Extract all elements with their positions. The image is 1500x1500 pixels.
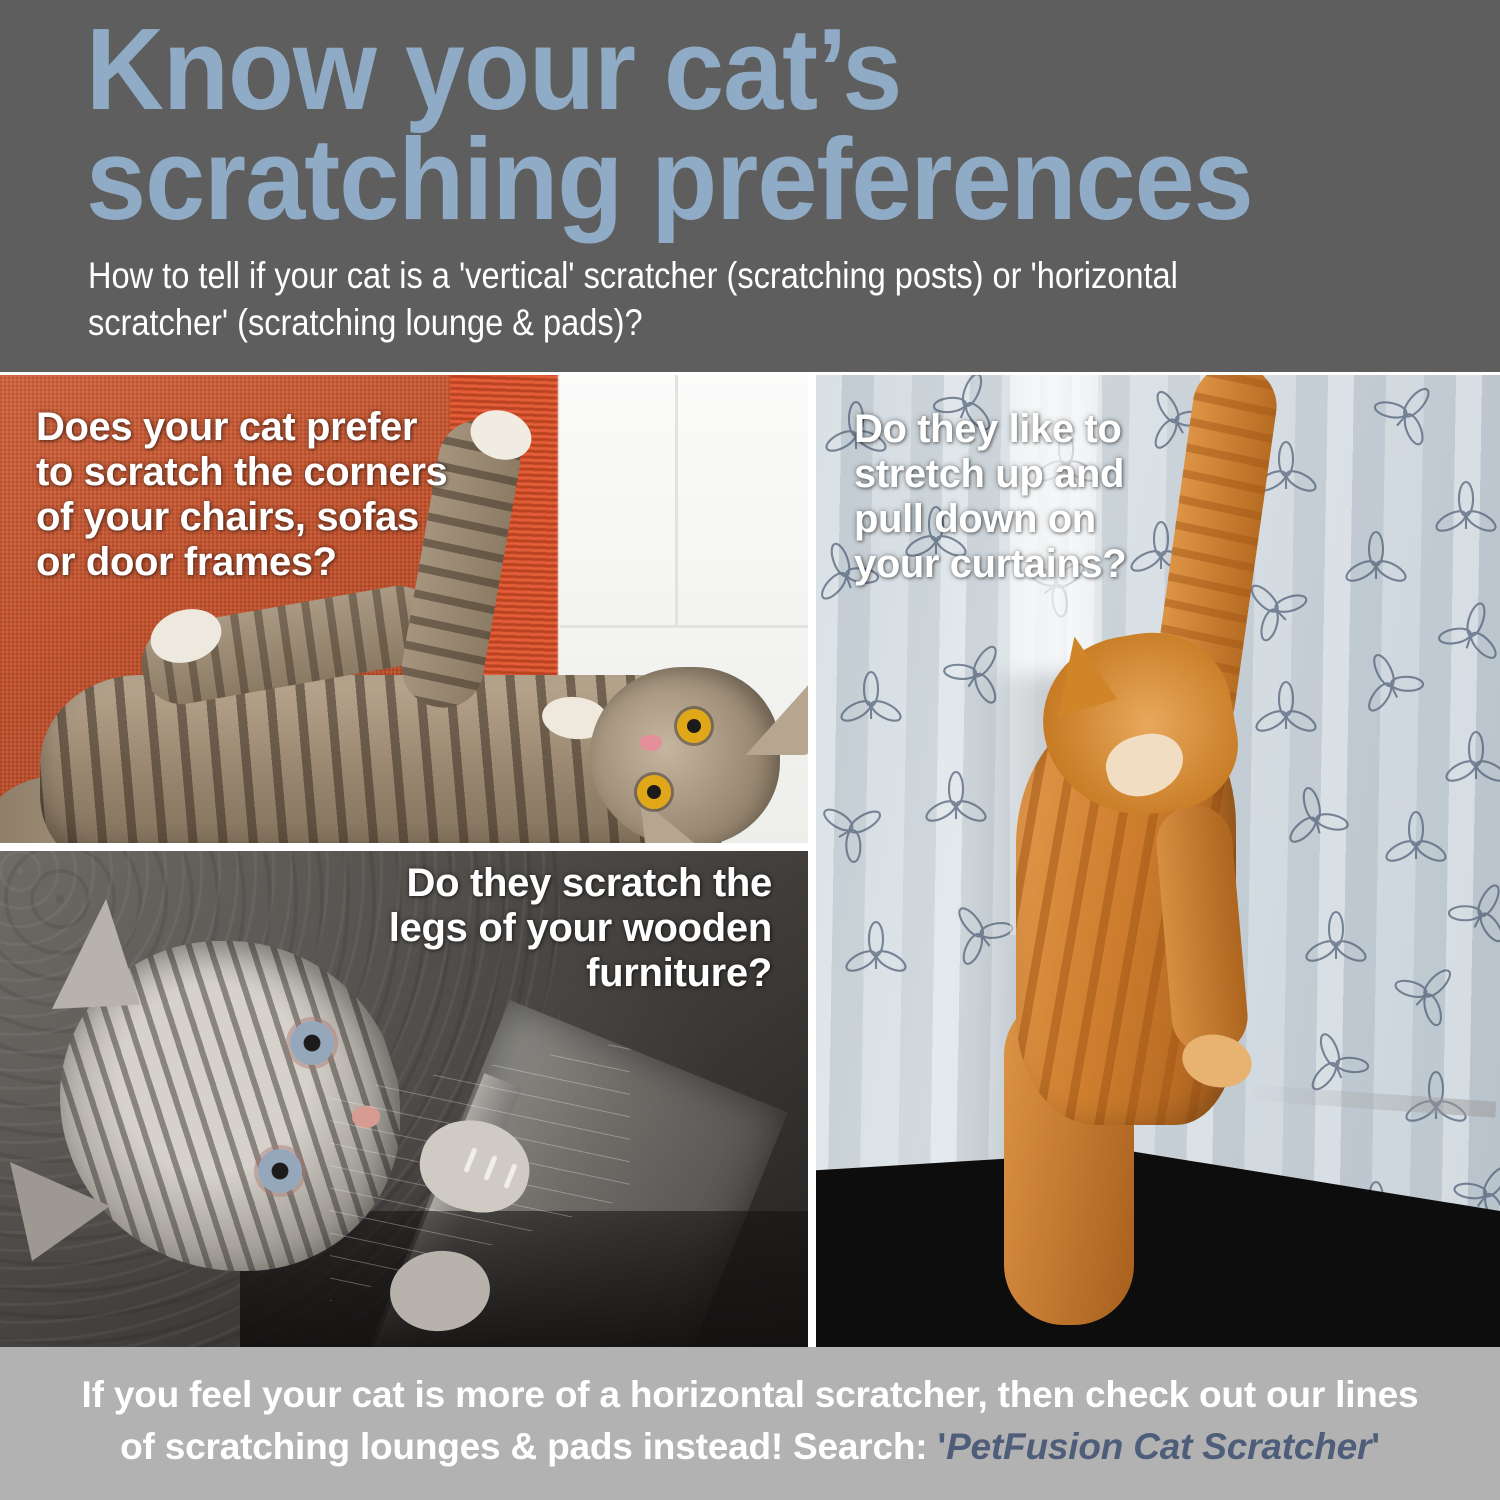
footer-line-2-prefix: of scratching lounges & pads instead! Se… bbox=[120, 1426, 937, 1467]
page-title: Know your cat’s scratching preferences bbox=[86, 14, 1323, 234]
tile-grout-horizontal bbox=[560, 625, 808, 628]
panel-top-left: Does your cat prefer to scratch the corn… bbox=[0, 375, 808, 843]
panel-caption-top-left: Does your cat prefer to scratch the corn… bbox=[36, 405, 447, 585]
footer-brand-close-quote: ' bbox=[1371, 1426, 1380, 1467]
footer-brand-open-quote: ' bbox=[937, 1426, 946, 1467]
panel-caption-bottom-left: Do they scratch the legs of your wooden … bbox=[389, 861, 772, 996]
tile-grout-vertical bbox=[675, 375, 678, 625]
cat-eye-lower bbox=[258, 1149, 302, 1193]
footer-line-1: If you feel your cat is more of a horizo… bbox=[0, 1369, 1500, 1421]
panel-right: Do they like to stretch up and pull down… bbox=[816, 375, 1500, 1347]
footer-brand-name: PetFusion Cat Scratcher bbox=[946, 1426, 1371, 1467]
cat-eye-upper bbox=[290, 1021, 334, 1065]
cat-nose bbox=[640, 735, 662, 751]
panel-caption-right: Do they like to stretch up and pull down… bbox=[854, 407, 1126, 587]
footer-line-2: of scratching lounges & pads instead! Se… bbox=[0, 1421, 1500, 1473]
panel-bottom-left: Do they scratch the legs of your wooden … bbox=[0, 851, 808, 1347]
cat-eye-lower bbox=[637, 775, 671, 809]
cat-head bbox=[590, 667, 780, 843]
footer-banner: If you feel your cat is more of a horizo… bbox=[0, 1347, 1500, 1500]
infographic-root: Know your cat’s scratching preferences H… bbox=[0, 0, 1500, 1500]
header-banner: Know your cat’s scratching preferences H… bbox=[0, 0, 1500, 372]
cat-eye-upper bbox=[677, 709, 711, 743]
page-subtitle: How to tell if your cat is a 'vertical' … bbox=[88, 252, 1267, 346]
